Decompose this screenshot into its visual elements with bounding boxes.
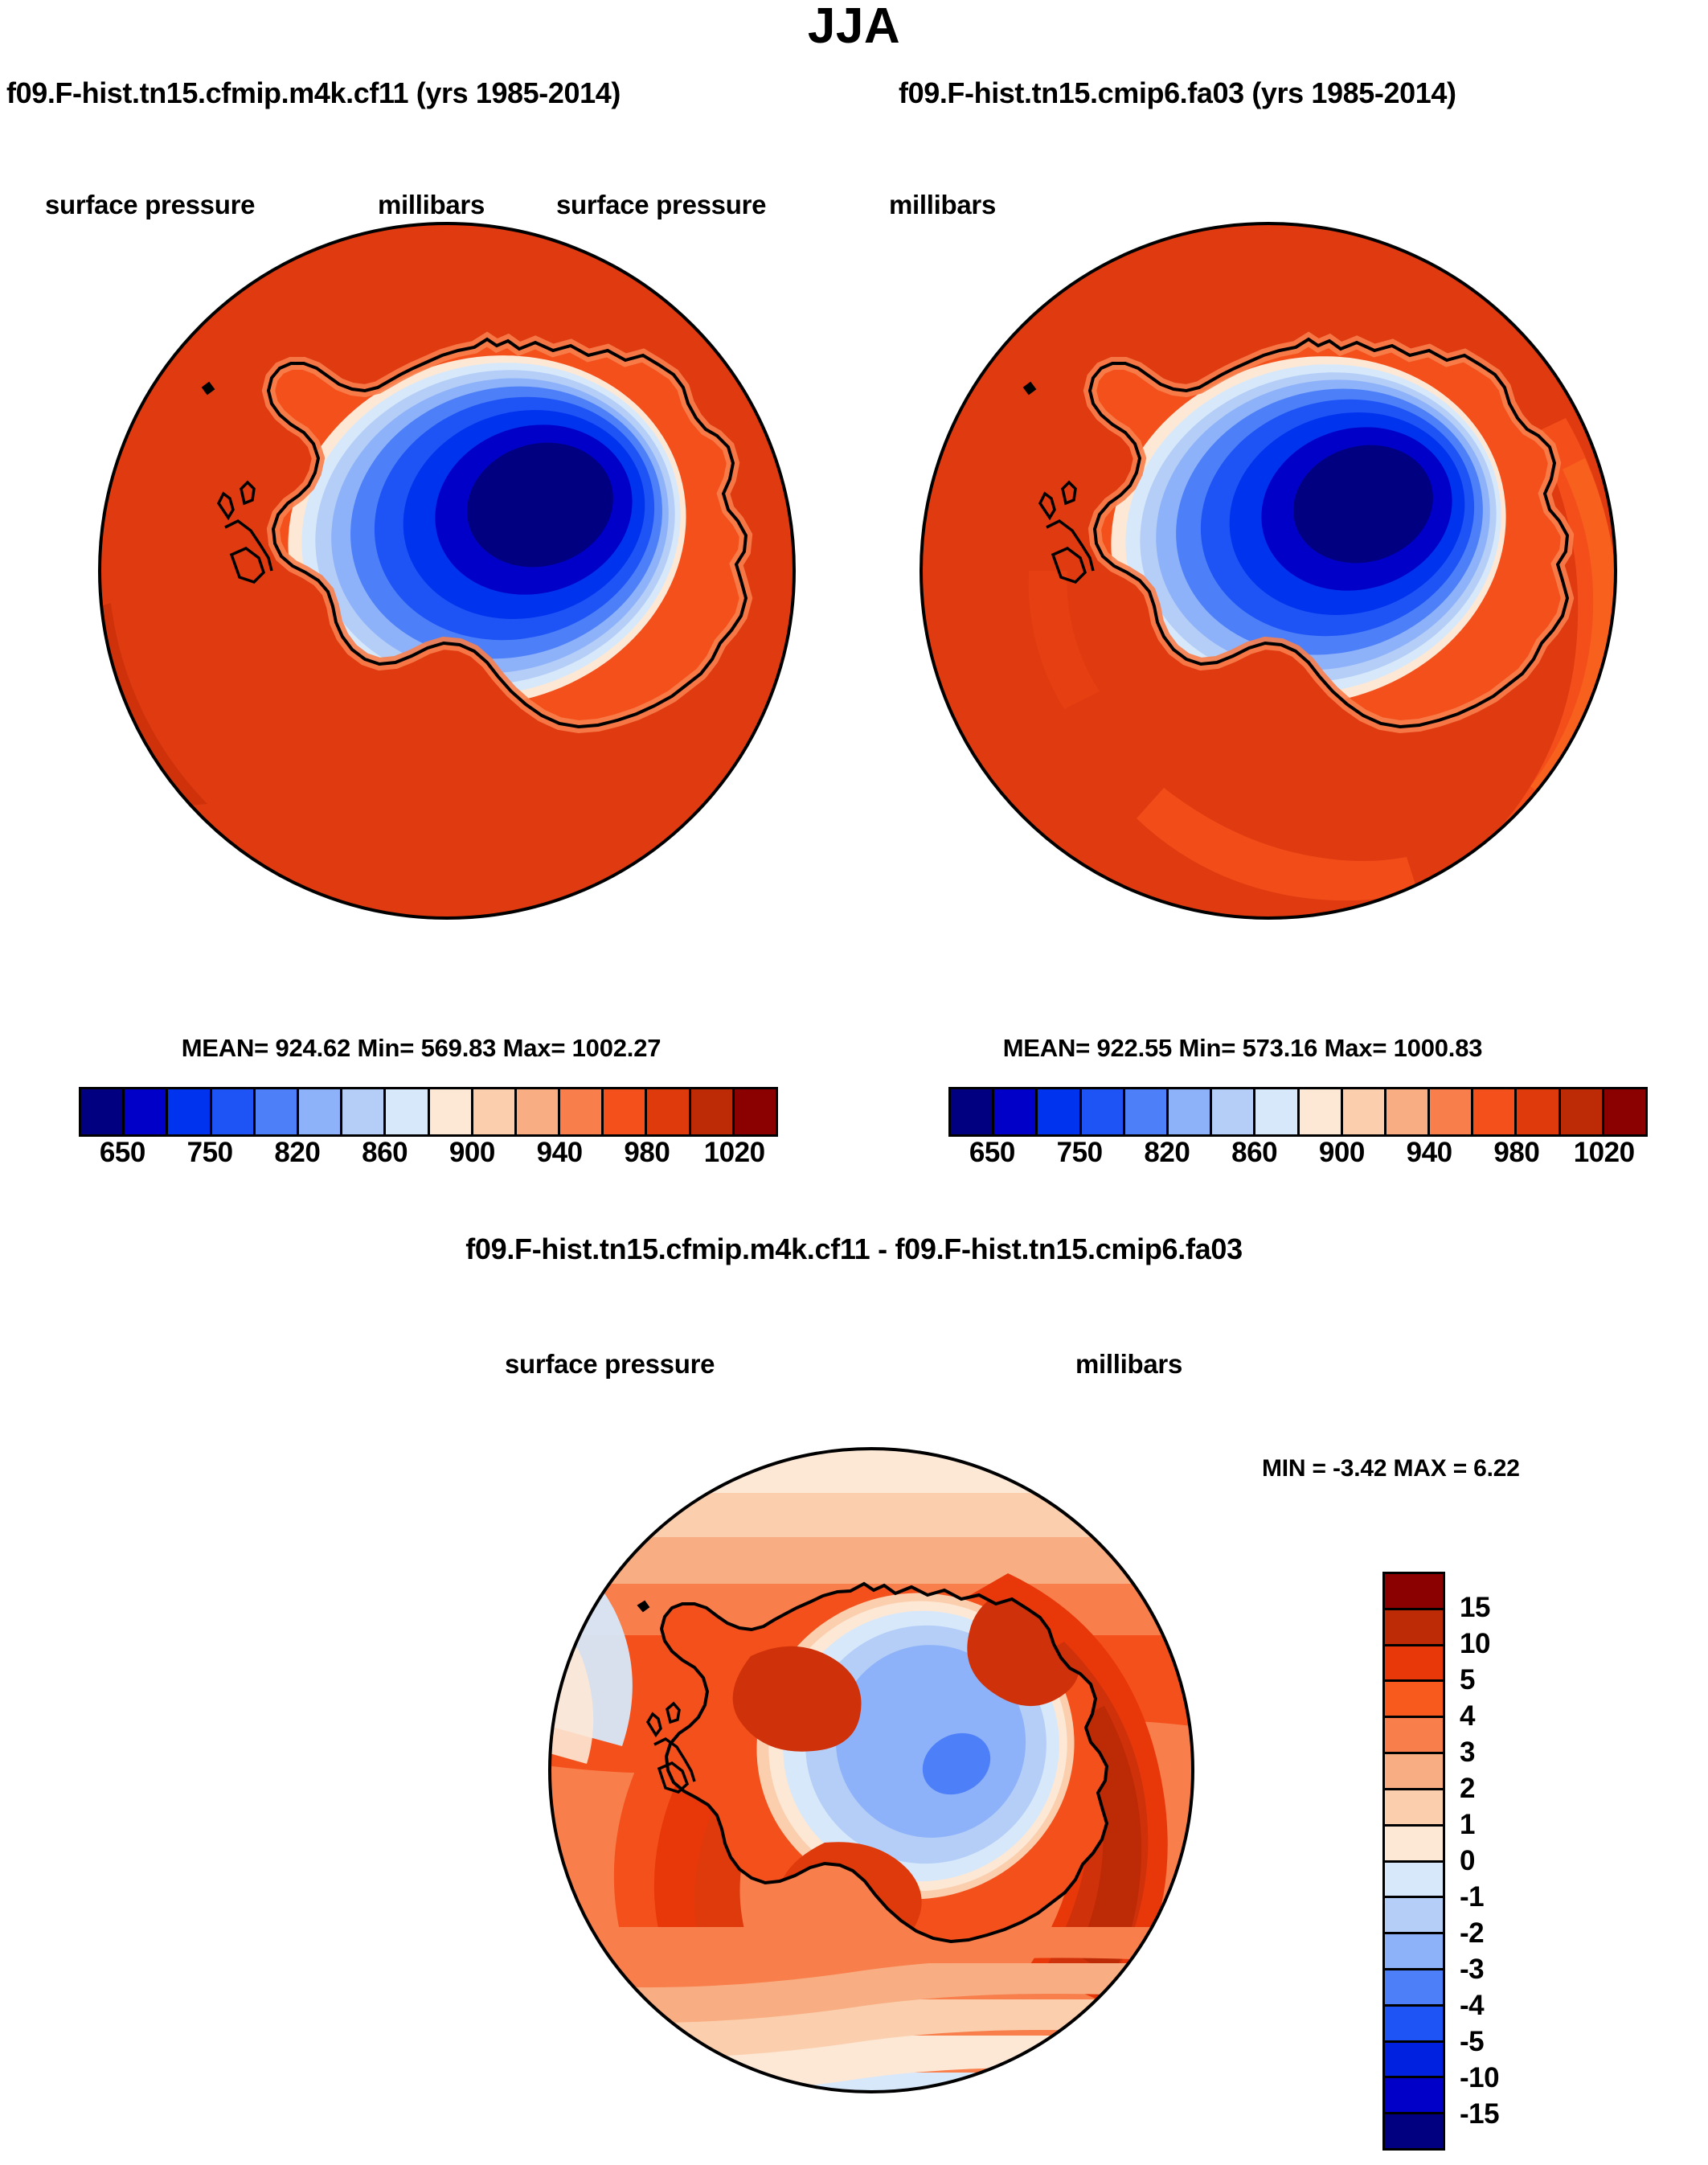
colorbar-cell-0 (951, 1089, 994, 1134)
colorbar-tick-label: 940 (1407, 1137, 1452, 1169)
colorbar-cell-1 (994, 1089, 1038, 1134)
colorbar-tick-label: 860 (1231, 1137, 1277, 1169)
difference-colorbar-tick-label: -5 (1460, 2026, 1484, 2058)
difference-colorbar-tick-label: 2 (1460, 1773, 1475, 1805)
difference-colorbar-cell-11 (1385, 1970, 1443, 2007)
colorbar-cell-7 (1255, 1089, 1299, 1134)
difference-colorbar-tick-label: 1 (1460, 1809, 1475, 1841)
difference-colorbar-cell-2 (1385, 1646, 1443, 1683)
right-colorbar[interactable]: 6507508208609009409801020 (948, 1087, 1648, 1174)
colorbar-tick-label: 750 (187, 1137, 233, 1169)
colorbar-cell-8 (430, 1089, 473, 1134)
colorbar-cell-10 (517, 1089, 560, 1134)
difference-colorbar-cell-14 (1385, 2078, 1443, 2114)
colorbar-cell-10 (1386, 1089, 1430, 1134)
right-colorbar-labels: 6507508208609009409801020 (948, 1137, 1648, 1174)
colorbar-tick-label: 750 (1057, 1137, 1103, 1169)
colorbar-cell-2 (1038, 1089, 1081, 1134)
right-panel-stats: MEAN= 922.55 Min= 573.16 Max= 1000.83 (874, 1034, 1611, 1063)
colorbar-cell-6 (1212, 1089, 1255, 1134)
colorbar-cell-1 (125, 1089, 168, 1134)
colorbar-cell-8 (1300, 1089, 1343, 1134)
difference-colorbar-tick-label: 10 (1460, 1628, 1490, 1660)
colorbar-cell-9 (1343, 1089, 1386, 1134)
difference-colorbar-tick-label: 0 (1460, 1845, 1475, 1877)
right-panel-case-title: f09.F-hist.tn15.cmip6.fa03 (yrs 1985-201… (899, 76, 1456, 110)
colorbar-cell-15 (1604, 1089, 1645, 1134)
difference-colorbar-tick-label: -1 (1460, 1881, 1484, 1913)
left-map-svg (53, 153, 841, 989)
colorbar-cell-6 (342, 1089, 386, 1134)
left-colorbar[interactable]: 6507508208609009409801020 (79, 1087, 778, 1174)
difference-colorbar[interactable]: 1510543210-1-2-3-4-5-10-15 (1382, 1572, 1583, 2151)
difference-colorbar-tick-label: 5 (1460, 1664, 1475, 1696)
colorbar-cell-5 (299, 1089, 342, 1134)
difference-colorbar-cell-0 (1385, 1574, 1443, 1610)
colorbar-tick-label: 900 (449, 1137, 495, 1169)
colorbar-cell-2 (168, 1089, 211, 1134)
difference-colorbar-tick-label: -4 (1460, 1990, 1484, 2022)
right-map-svg (874, 153, 1662, 989)
difference-map-panel[interactable] (510, 1400, 1233, 2140)
difference-colorbar-cell-15 (1385, 2114, 1443, 2148)
difference-colorbar-swatches (1382, 1572, 1445, 2151)
difference-colorbar-tick-label: -2 (1460, 1917, 1484, 1950)
colorbar-cell-9 (473, 1089, 517, 1134)
colorbar-tick-label: 980 (624, 1137, 670, 1169)
difference-colorbar-cell-5 (1385, 1754, 1443, 1790)
colorbar-tick-label: 980 (1493, 1137, 1539, 1169)
difference-colorbar-cell-4 (1385, 1718, 1443, 1754)
season-title: JJA (0, 2, 1708, 51)
colorbar-cell-0 (81, 1089, 125, 1134)
difference-map-svg (510, 1400, 1233, 2140)
colorbar-cell-14 (691, 1089, 735, 1134)
left-colorbar-labels: 6507508208609009409801020 (79, 1137, 778, 1174)
colorbar-cell-5 (1169, 1089, 1212, 1134)
colorbar-tick-label: 860 (362, 1137, 408, 1169)
colorbar-tick-label: 1020 (1574, 1137, 1635, 1169)
colorbar-tick-label: 820 (1144, 1137, 1190, 1169)
colorbar-cell-3 (212, 1089, 256, 1134)
colorbar-cell-3 (1082, 1089, 1125, 1134)
difference-panel-minmax: MIN = -3.42 MAX = 6.22 (1262, 1455, 1520, 1482)
difference-colorbar-cell-9 (1385, 1898, 1443, 1934)
colorbar-cell-13 (647, 1089, 690, 1134)
colorbar-cell-12 (604, 1089, 647, 1134)
difference-colorbar-cell-12 (1385, 2007, 1443, 2043)
colorbar-tick-label: 650 (969, 1137, 1015, 1169)
colorbar-cell-11 (560, 1089, 604, 1134)
difference-colorbar-cell-7 (1385, 1827, 1443, 1863)
colorbar-cell-7 (386, 1089, 429, 1134)
difference-colorbar-cell-1 (1385, 1610, 1443, 1646)
colorbar-cell-15 (735, 1089, 776, 1134)
difference-colorbar-cell-8 (1385, 1863, 1443, 1899)
colorbar-tick-label: 650 (100, 1137, 145, 1169)
colorbar-cell-4 (256, 1089, 299, 1134)
colorbar-tick-label: 900 (1319, 1137, 1365, 1169)
difference-colorbar-tick-label: -3 (1460, 1954, 1484, 1986)
colorbar-cell-4 (1125, 1089, 1169, 1134)
right-colorbar-swatches (948, 1087, 1648, 1137)
colorbar-cell-12 (1473, 1089, 1517, 1134)
left-panel-stats: MEAN= 924.62 Min= 569.83 Max= 1002.27 (53, 1034, 789, 1063)
left-map-panel[interactable] (53, 153, 841, 989)
difference-colorbar-cell-10 (1385, 1934, 1443, 1970)
difference-colorbar-cell-3 (1385, 1682, 1443, 1718)
difference-colorbar-tick-label: 3 (1460, 1737, 1475, 1769)
difference-colorbar-labels: 1510543210-1-2-3-4-5-10-15 (1460, 1572, 1572, 2151)
right-map-panel[interactable] (874, 153, 1662, 989)
difference-colorbar-cell-6 (1385, 1790, 1443, 1827)
left-colorbar-swatches (79, 1087, 778, 1137)
colorbar-cell-11 (1430, 1089, 1473, 1134)
colorbar-cell-13 (1517, 1089, 1560, 1134)
difference-colorbar-tick-label: 15 (1460, 1592, 1490, 1624)
right-panel-field-label: surface pressure (556, 190, 766, 220)
difference-colorbar-tick-label: 4 (1460, 1700, 1475, 1732)
difference-colorbar-cell-13 (1385, 2043, 1443, 2079)
difference-panel-units-label: millibars (1075, 1349, 1182, 1380)
colorbar-tick-label: 1020 (704, 1137, 765, 1169)
colorbar-tick-label: 820 (274, 1137, 320, 1169)
difference-colorbar-tick-label: -15 (1460, 2098, 1499, 2130)
colorbar-tick-label: 940 (537, 1137, 583, 1169)
difference-colorbar-tick-label: -10 (1460, 2062, 1499, 2094)
colorbar-cell-14 (1561, 1089, 1604, 1134)
difference-panel-case-title: f09.F-hist.tn15.cfmip.m4k.cf11 - f09.F-h… (0, 1232, 1708, 1266)
difference-panel-field-label: surface pressure (505, 1349, 715, 1380)
left-panel-case-title: f09.F-hist.tn15.cfmip.m4k.cf11 (yrs 1985… (6, 76, 621, 110)
